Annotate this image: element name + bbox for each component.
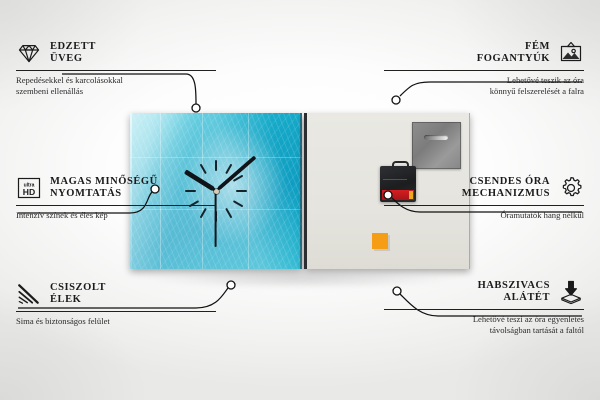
feature-title: FÉM FOGANTYÚK (477, 41, 550, 65)
press-pad-icon (558, 279, 584, 305)
feature-divider (16, 205, 216, 206)
feature-high-quality-print: ultra HD MAGAS MINŐSÉGŰ NYOMTATÁS Intenz… (16, 175, 216, 221)
feature-title: HABSZIVACS ALÁTÉT (478, 280, 550, 304)
picture-frame-icon (558, 40, 584, 66)
feature-title: CSENDES ÓRA MECHANIZMUS (462, 176, 550, 200)
feature-description: Óramutatók hang nélkül (384, 210, 584, 221)
feature-description: Sima és biztonságos felület (16, 316, 216, 327)
feature-foam-spacer: HABSZIVACS ALÁTÉT Lehetővé teszi az óra … (384, 279, 584, 335)
feature-header: EDZETT ÜVEG (16, 40, 216, 66)
orange-foam-pad (372, 233, 388, 249)
feature-header: CSENDES ÓRA MECHANIZMUS (384, 175, 584, 201)
metal-hanger-plate (412, 122, 461, 169)
infographic-canvas: EDZETT ÜVEG Repedésekkel és karcolásokka… (0, 0, 600, 400)
feature-description: Lehetővé teszi az óra egyenletes távolsá… (384, 314, 584, 335)
clock-minute-hand (215, 155, 257, 192)
feature-metal-handles: FÉM FOGANTYÚK Lehetővé teszik az óra kön… (384, 40, 584, 96)
feature-description: Repedésekkel és karcolásokkal szembeni e… (16, 75, 216, 96)
feature-header: HABSZIVACS ALÁTÉT (384, 279, 584, 305)
feature-divider (384, 70, 584, 71)
feature-header: CSISZOLT ÉLEK (16, 281, 216, 307)
ultra-hd-icon: ultra HD (16, 175, 42, 201)
feature-polished-edges: CSISZOLT ÉLEK Sima és biztonságos felüle… (16, 281, 216, 327)
feature-divider (384, 205, 584, 206)
feature-header: FÉM FOGANTYÚK (384, 40, 584, 66)
feature-title: EDZETT ÜVEG (50, 41, 96, 65)
feature-description: Intenzív színek és éles kép (16, 210, 216, 221)
feature-tempered-glass: EDZETT ÜVEG Repedésekkel és karcolásokka… (16, 40, 216, 96)
beveled-edge-icon (16, 281, 42, 307)
feature-description: Lehetővé teszik az óra könnyű felszerelé… (384, 75, 584, 96)
gear-icon (558, 175, 584, 201)
feature-title: MAGAS MINŐSÉGŰ NYOMTATÁS (50, 176, 158, 200)
diamond-icon (16, 40, 42, 66)
feature-divider (16, 311, 216, 312)
feature-title: CSISZOLT ÉLEK (50, 282, 106, 306)
svg-text:HD: HD (23, 187, 35, 197)
feature-divider (16, 70, 216, 71)
feature-divider (384, 309, 584, 310)
feature-silent-mechanism: CSENDES ÓRA MECHANIZMUS Óramutatók hang … (384, 175, 584, 221)
feature-header: ultra HD MAGAS MINŐSÉGŰ NYOMTATÁS (16, 175, 216, 201)
